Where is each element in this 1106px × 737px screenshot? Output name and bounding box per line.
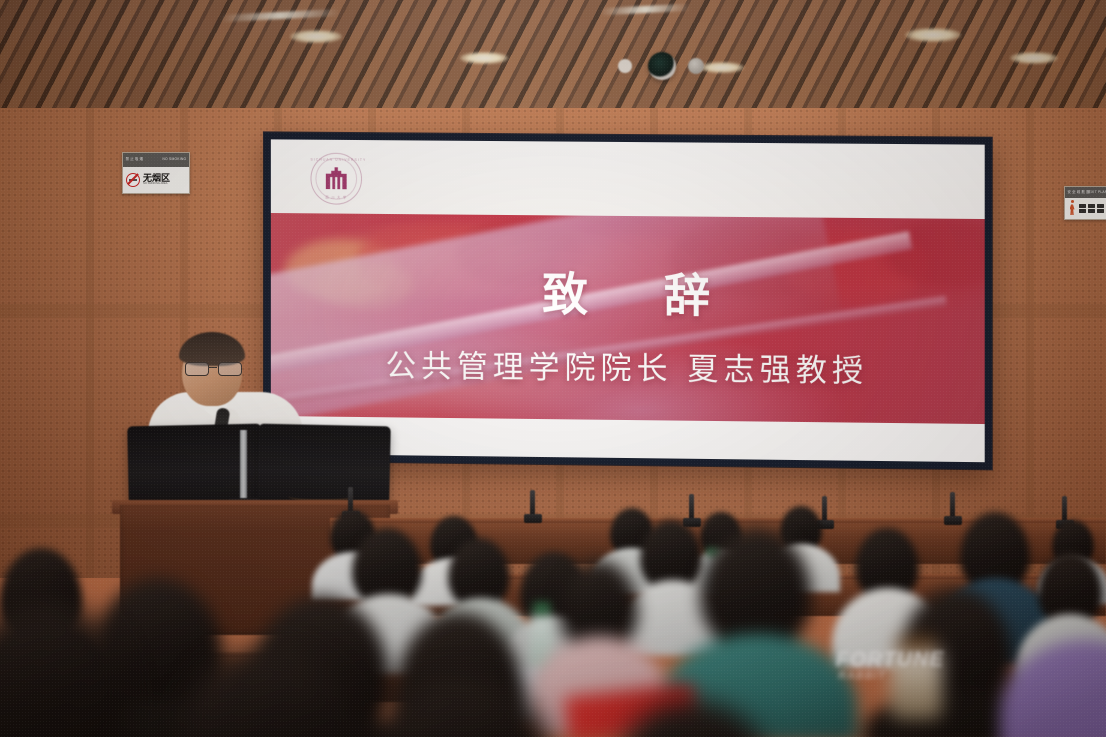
table-microphone-5: [948, 492, 957, 526]
sign-body: 无烟区 NO SMOKING AREA: [123, 167, 189, 193]
evacuation-header-en: EXIT PLAN: [1089, 191, 1106, 194]
emblem-text-bottom: 四 川 大 学: [310, 194, 362, 199]
presenter-hair: [179, 332, 245, 366]
presenter-glasses-icon: [185, 362, 240, 374]
evacuation-header-cn: 安 全 疏 散 图: [1067, 191, 1089, 194]
slide-subtitle: 公共管理学院院长 夏志强教授: [271, 339, 985, 392]
wall-sensor-left: [618, 59, 632, 73]
table-microphone-4: [820, 496, 829, 530]
ceiling-camera: [648, 52, 676, 80]
water-bottle-cap-mid: [533, 602, 551, 615]
projection-screen-surface: SICHUAN UNIVERSITY 四 川 大 学: [271, 139, 985, 462]
sign-header: 禁 止 吸 烟 NO SMOKING: [123, 153, 189, 167]
slide-title: 致 辞: [271, 256, 985, 329]
slide-photo-band: 致 辞 公共管理学院院长 夏志强教授: [271, 213, 985, 424]
conference-hall-photo: 禁 止 吸 烟 NO SMOKING 无烟区 NO SMOKING AREA 安…: [0, 0, 1106, 737]
evacuation-sign: 安 全 疏 散 图 EXIT PLAN: [1064, 186, 1106, 220]
sign-header-en: NO SMOKING: [163, 158, 187, 161]
sign-sublabel: NO SMOKING AREA: [143, 183, 170, 186]
university-emblem-icon: SICHUAN UNIVERSITY 四 川 大 学: [310, 153, 362, 205]
table-microphone-3: [687, 494, 696, 528]
no-smoking-icon: [126, 173, 140, 187]
evacuation-sign-body: [1065, 198, 1106, 219]
running-person-icon: [1068, 200, 1076, 216]
evacuation-sign-header: 安 全 疏 散 图 EXIT PLAN: [1065, 187, 1106, 198]
table-microphone-2: [528, 490, 537, 524]
projection-screen[interactable]: SICHUAN UNIVERSITY 四 川 大 学: [264, 132, 992, 469]
emblem-text-top: SICHUAN UNIVERSITY: [310, 158, 362, 162]
sign-header-cn: 禁 止 吸 烟: [126, 158, 144, 161]
wall-speaker-dome: [688, 58, 704, 74]
teal-shirt-brand-subtext: RABBIT: [838, 670, 886, 682]
evacuation-map-grid: [1079, 204, 1104, 214]
no-smoking-sign: 禁 止 吸 烟 NO SMOKING 无烟区 NO SMOKING AREA: [122, 152, 190, 194]
slide-top-band: SICHUAN UNIVERSITY 四 川 大 学: [271, 139, 985, 219]
teal-shirt-brand-text: FORTUNE: [836, 648, 944, 672]
